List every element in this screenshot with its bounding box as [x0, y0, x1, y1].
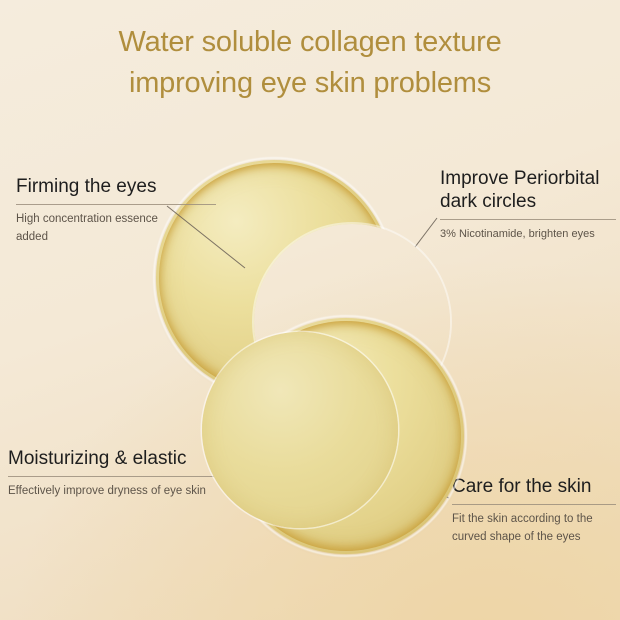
callout-care-heading: Care for the skin	[452, 476, 616, 499]
callout-periorbital-heading: Improve Periorbital dark circles	[440, 168, 616, 214]
callout-periorbital-body: 3% Nicotinamide, brighten eyes	[440, 226, 616, 243]
callout-firming-rule	[16, 204, 216, 205]
callout-firming-heading: Firming the eyes	[16, 176, 216, 199]
callout-moisturizing-heading: Moisturizing & elastic	[8, 448, 236, 471]
callout-care-rule	[452, 504, 616, 505]
callout-firming: Firming the eyes High concentration esse…	[16, 176, 216, 246]
callout-care-body: Fit the skin according to the curved sha…	[452, 511, 616, 547]
callout-moisturizing-rule	[8, 476, 236, 477]
callout-care: Care for the skin Fit the skin according…	[452, 476, 616, 546]
callout-periorbital: Improve Periorbital dark circles 3% Nico…	[440, 168, 616, 243]
crescent-cutout-lower	[202, 332, 398, 528]
callout-periorbital-rule	[440, 219, 616, 220]
callout-moisturizing-body: Effectively improve dryness of eye skin	[8, 483, 236, 501]
product-infographic: Water soluble collagen texture improving…	[0, 0, 620, 620]
callout-moisturizing: Moisturizing & elastic Effectively impro…	[8, 448, 236, 501]
callout-firming-body: High concentration essence added	[16, 211, 216, 247]
